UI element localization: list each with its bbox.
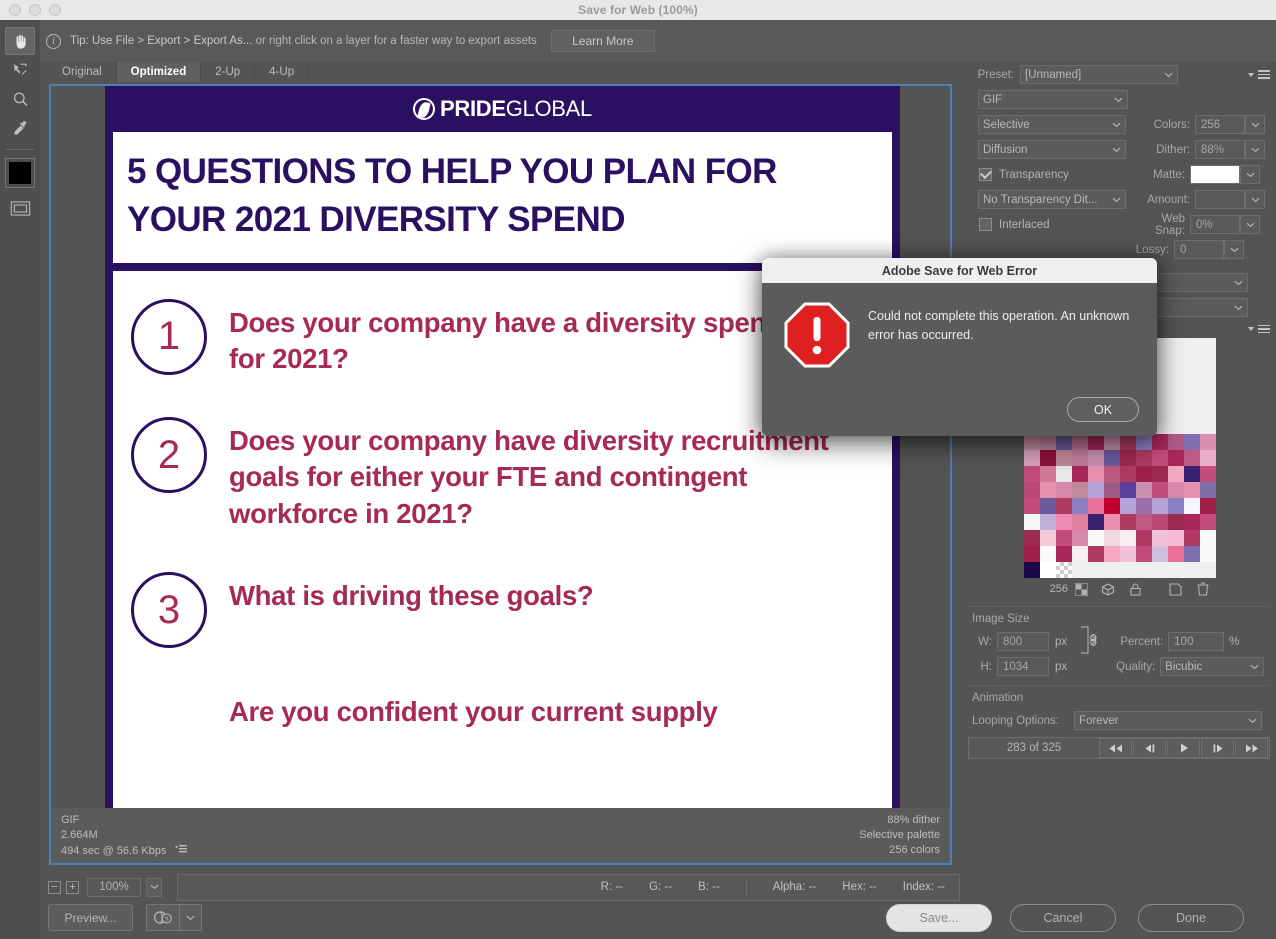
color-swatch[interactable]	[1072, 546, 1088, 562]
color-swatch[interactable]	[1072, 434, 1088, 450]
readout-hex: Hex: --	[842, 881, 877, 893]
lossy-dropdown[interactable]	[1224, 240, 1244, 259]
save-button[interactable]: Save...	[886, 904, 992, 932]
error-message: Could not complete this operation. An un…	[868, 302, 1137, 373]
preview-button[interactable]: Preview...	[48, 904, 133, 931]
chevron-down-icon	[1164, 69, 1173, 81]
color-swatch[interactable]	[1152, 562, 1168, 578]
color-swatch[interactable]	[1088, 498, 1104, 514]
zoom-tool[interactable]	[5, 85, 35, 113]
optimized-download-time: 494 sec @ 56.6 Kbps	[61, 844, 187, 857]
matte-label: Matte:	[1129, 169, 1185, 181]
question-item: 1 Does your company have a diversity spe…	[131, 299, 866, 378]
fast-forward-icon	[1244, 744, 1260, 753]
color-swatch[interactable]	[1072, 482, 1088, 498]
foreground-color-swatch[interactable]	[5, 158, 35, 188]
color-swatch[interactable]	[1168, 418, 1184, 434]
color-swatch[interactable]	[1168, 386, 1184, 402]
preset-row: Preset: [Unnamed]	[968, 62, 1270, 87]
question-number: 2	[131, 417, 207, 493]
tab-original[interactable]: Original	[48, 62, 117, 82]
question-number: 1	[131, 299, 207, 375]
svg-text:?: ?	[165, 917, 169, 924]
color-swatch[interactable]	[1152, 482, 1168, 498]
color-swatch[interactable]	[1200, 466, 1216, 482]
color-swatch[interactable]	[1136, 482, 1152, 498]
preset-select[interactable]: [Unnamed]	[1020, 65, 1178, 84]
tip-prefix: Tip: Use File > Export > Export As...	[70, 35, 252, 47]
looping-options-select[interactable]: Forever	[1074, 711, 1262, 730]
document-brand-header: PRIDEGLOBAL	[105, 86, 900, 132]
color-swatch[interactable]	[1072, 498, 1088, 514]
color-swatch[interactable]	[1024, 482, 1040, 498]
color-swatch[interactable]	[1056, 514, 1072, 530]
transparency-checkbox[interactable]	[979, 168, 992, 181]
quality-select[interactable]: Bicubic	[1160, 657, 1264, 676]
readout-b: B: --	[698, 881, 720, 893]
animation-section: Animation Looping Options: Forever 283 o…	[968, 685, 1270, 759]
color-swatch[interactable]	[1040, 498, 1056, 514]
color-swatch[interactable]	[1200, 498, 1216, 514]
color-swatch[interactable]	[1136, 434, 1152, 450]
color-swatch[interactable]	[1024, 514, 1040, 530]
slice-select-icon	[11, 61, 30, 80]
pride-logo-mark-icon	[413, 98, 435, 120]
animation-section-label: Animation	[972, 692, 1270, 704]
transparency-icon[interactable]	[1068, 583, 1095, 596]
delete-color-icon[interactable]	[1189, 582, 1216, 596]
tab-4up[interactable]: 4-Up	[255, 62, 309, 82]
cancel-button[interactable]: Cancel	[1010, 904, 1116, 932]
color-swatch[interactable]	[1088, 546, 1104, 562]
eyedropper-tool[interactable]	[5, 114, 35, 142]
color-swatch[interactable]	[1200, 562, 1216, 578]
color-swatch[interactable]	[1200, 402, 1216, 418]
download-time-text: 494 sec @ 56.6 Kbps	[61, 845, 166, 857]
color-swatch[interactable]	[1088, 450, 1104, 466]
tip-suffix: or right click on a layer for a faster w…	[256, 35, 537, 47]
color-swatch[interactable]	[1104, 530, 1120, 546]
browser-preview-icon: ?	[153, 909, 173, 926]
amount-label: Amount:	[1134, 194, 1190, 206]
zoom-out-button[interactable]: −	[48, 881, 61, 894]
optimized-palette: Selective palette	[859, 829, 940, 841]
preset-label: Preset:	[968, 69, 1014, 81]
color-swatch[interactable]	[1120, 450, 1136, 466]
width-unit: px	[1055, 636, 1067, 648]
chevron-down-icon	[1250, 661, 1259, 673]
reduction-colors-row: Selective Colors: 256	[968, 112, 1270, 137]
status-zoom-bar: − + 100% R: -- G: -- B: -- Alpha: -- Hex…	[48, 872, 960, 902]
color-swatch[interactable]	[1200, 546, 1216, 562]
file-format-select[interactable]: GIF	[978, 90, 1128, 109]
settings-panel: Preset: [Unnamed] GIF Selecti	[962, 62, 1276, 862]
learn-more-button[interactable]: Learn More	[551, 30, 655, 52]
color-swatch[interactable]	[1072, 466, 1088, 482]
chevron-down-icon	[1114, 94, 1123, 106]
image-height-row: H: 1034 px Quality: Bicubic	[968, 654, 1270, 679]
color-table-flyout-menu-button[interactable]	[1248, 325, 1270, 334]
color-swatch[interactable]	[1184, 354, 1200, 370]
color-swatch[interactable]	[1200, 434, 1216, 450]
color-table-count: 256	[1024, 583, 1068, 595]
color-swatch[interactable]	[1168, 562, 1184, 578]
color-swatch[interactable]	[1184, 370, 1200, 386]
link-chain-icon[interactable]	[1079, 625, 1101, 658]
question-text: Are you confident your current supply	[229, 688, 718, 730]
color-swatch[interactable]	[1136, 498, 1152, 514]
color-swatch[interactable]	[1040, 546, 1056, 562]
transparency-dither-amount-row: No Transparency Dit... Amount:	[968, 187, 1270, 212]
color-swatch[interactable]	[1152, 530, 1168, 546]
color-swatch[interactable]	[1200, 514, 1216, 530]
color-swatch[interactable]	[1104, 546, 1120, 562]
question-item: 4 Are you confident your current supply	[131, 688, 866, 764]
quality-label: Quality:	[1103, 661, 1155, 673]
play-button[interactable]	[1167, 738, 1200, 758]
hand-icon	[11, 32, 30, 51]
matte-dropdown[interactable]	[1240, 165, 1260, 184]
pride-global-logo: PRIDEGLOBAL	[413, 96, 592, 122]
color-swatch[interactable]	[1184, 450, 1200, 466]
dither-algorithm-value: Diffusion	[983, 144, 1028, 156]
color-swatch[interactable]	[1168, 338, 1184, 354]
color-swatch[interactable]	[1200, 370, 1216, 386]
ok-button[interactable]: OK	[1067, 397, 1139, 422]
percent-field[interactable]: 100	[1168, 632, 1224, 651]
width-label: W:	[972, 636, 992, 648]
color-swatch[interactable]	[1056, 530, 1072, 546]
color-swatch[interactable]	[1024, 546, 1040, 562]
done-button[interactable]: Done	[1138, 904, 1244, 932]
color-swatch[interactable]	[1168, 450, 1184, 466]
color-swatch[interactable]	[1104, 450, 1120, 466]
image-width-row: W: 800 px Percent: 100 %	[968, 629, 1270, 654]
color-swatch[interactable]	[1072, 514, 1088, 530]
height-label: H:	[972, 661, 992, 673]
color-swatch[interactable]	[1168, 354, 1184, 370]
lossy-label: Lossy:	[968, 244, 1169, 256]
color-swatch[interactable]	[1072, 562, 1088, 578]
color-swatch[interactable]	[1120, 530, 1136, 546]
looping-options-value: Forever	[1079, 715, 1119, 727]
color-swatch[interactable]	[1184, 530, 1200, 546]
color-swatch[interactable]	[1136, 466, 1152, 482]
tab-2up[interactable]: 2-Up	[201, 62, 255, 82]
format-row: GIF	[968, 87, 1270, 112]
color-swatch[interactable]	[1184, 338, 1200, 354]
color-swatch[interactable]	[1168, 498, 1184, 514]
dither-dropdown[interactable]	[1245, 140, 1265, 159]
color-swatch[interactable]	[1104, 514, 1120, 530]
readout-index: Index: --	[903, 881, 945, 893]
color-swatch[interactable]	[1056, 562, 1072, 578]
color-swatch[interactable]	[1072, 450, 1088, 466]
color-swatch[interactable]	[1152, 546, 1168, 562]
question-item: 2 Does your company have diversity recru…	[131, 417, 866, 532]
info-icon: i	[46, 34, 61, 49]
matte-color-swatch[interactable]	[1190, 165, 1240, 184]
color-swatch[interactable]	[1040, 466, 1056, 482]
color-swatch[interactable]	[1088, 482, 1104, 498]
color-swatch[interactable]	[1136, 514, 1152, 530]
color-swatch[interactable]	[1200, 386, 1216, 402]
next-frame-button[interactable]	[1201, 738, 1234, 758]
rewind-icon	[1108, 744, 1124, 753]
chevron-down-icon	[186, 915, 195, 921]
color-swatch[interactable]	[1184, 386, 1200, 402]
color-swatch[interactable]	[1024, 562, 1040, 578]
dither-algorithm-select[interactable]: Diffusion	[978, 140, 1126, 159]
color-swatch[interactable]	[1136, 562, 1152, 578]
frame-counter: 283 of 325	[969, 742, 1099, 754]
color-swatch[interactable]	[1040, 530, 1056, 546]
chevron-down-icon	[1251, 144, 1260, 156]
toggle-slices-icon	[9, 198, 32, 219]
chevron-down-icon	[1112, 194, 1121, 206]
color-swatch[interactable]	[1136, 450, 1152, 466]
question-item: 3 What is driving these goals?	[131, 572, 866, 648]
percent-label: Percent:	[1107, 636, 1163, 648]
tip-bar: i Tip: Use File > Export > Export As... …	[40, 20, 1276, 62]
color-swatch[interactable]	[1168, 434, 1184, 450]
web-snap-field[interactable]: 0%	[1190, 215, 1240, 234]
view-tabs: Original Optimized 2-Up 4-Up	[48, 62, 958, 82]
color-swatch[interactable]	[1024, 498, 1040, 514]
zoom-level-field[interactable]: 100%	[87, 878, 141, 897]
colors-label: Colors:	[1134, 119, 1190, 131]
color-swatch[interactable]	[1168, 402, 1184, 418]
interlaced-checkbox[interactable]	[979, 218, 992, 231]
color-swatch[interactable]	[1024, 434, 1040, 450]
error-dialog-title: Adobe Save for Web Error	[762, 258, 1157, 283]
color-swatch[interactable]	[1040, 482, 1056, 498]
question-text: What is driving these goals?	[229, 572, 593, 614]
transparency-dither-value: No Transparency Dit...	[983, 194, 1097, 206]
color-swatch[interactable]	[1104, 434, 1120, 450]
document-headline: 5 QUESTIONS TO HELP YOU PLAN FOR YOUR 20…	[127, 148, 878, 245]
amount-field[interactable]	[1195, 190, 1245, 209]
color-swatch[interactable]	[1088, 514, 1104, 530]
color-swatch[interactable]	[1168, 466, 1184, 482]
color-swatch[interactable]	[1184, 466, 1200, 482]
color-swatch[interactable]	[1184, 482, 1200, 498]
color-swatch[interactable]	[1088, 466, 1104, 482]
color-swatch[interactable]	[1056, 466, 1072, 482]
color-swatch[interactable]	[1184, 546, 1200, 562]
optimized-info-left: GIF 2.664M 494 sec @ 56.6 Kbps	[61, 814, 187, 857]
error-dialog-footer: OK	[1067, 397, 1139, 422]
optimized-info-right: 88% dither Selective palette 256 colors	[859, 814, 940, 857]
step-back-icon	[1143, 744, 1157, 753]
color-swatch[interactable]	[1056, 434, 1072, 450]
animation-navigation-bar: 283 of 325	[968, 737, 1270, 759]
chevron-down-icon	[1112, 144, 1121, 156]
color-swatch[interactable]	[1184, 562, 1200, 578]
looping-options-row: Looping Options: Forever	[968, 708, 1270, 733]
chevron-down-icon	[1251, 194, 1260, 206]
web-snap-label: Web Snap:	[1129, 213, 1185, 237]
dither-label: Dither:	[1134, 144, 1190, 156]
image-size-section: Image Size W: 800 px Percent: 100 %	[968, 606, 1270, 679]
color-swatch[interactable]	[1168, 370, 1184, 386]
colors-dropdown[interactable]	[1245, 115, 1265, 134]
color-swatch[interactable]	[1104, 482, 1120, 498]
foreground-color-chip	[9, 162, 31, 184]
preset-value: [Unnamed]	[1025, 69, 1081, 81]
last-frame-button[interactable]	[1235, 738, 1268, 758]
optimized-format: GIF	[61, 814, 187, 826]
optimized-preview-canvas[interactable]: PRIDEGLOBAL 5 QUESTIONS TO HELP YOU PLAN…	[49, 84, 952, 865]
color-reduction-select[interactable]: Selective	[978, 115, 1126, 134]
toggle-slices-visibility-button[interactable]	[5, 194, 35, 222]
color-swatch[interactable]	[1104, 466, 1120, 482]
previous-frame-button[interactable]	[1133, 738, 1166, 758]
download-speed-flyout-icon[interactable]	[175, 844, 187, 854]
slice-select-tool[interactable]	[5, 56, 35, 84]
color-swatch[interactable]	[1168, 514, 1184, 530]
color-swatch[interactable]	[1136, 546, 1152, 562]
chevron-down-icon	[1246, 169, 1255, 181]
color-swatch[interactable]	[1152, 450, 1168, 466]
color-swatch[interactable]	[1120, 482, 1136, 498]
first-frame-button[interactable]	[1099, 738, 1132, 758]
logo-pride: PRIDE	[440, 96, 506, 121]
color-swatch[interactable]	[1056, 498, 1072, 514]
color-swatch[interactable]	[1184, 498, 1200, 514]
chevron-down-icon	[150, 884, 159, 890]
color-swatch[interactable]	[1056, 546, 1072, 562]
colors-field[interactable]: 256	[1195, 115, 1245, 134]
document-image: PRIDEGLOBAL 5 QUESTIONS TO HELP YOU PLAN…	[105, 86, 900, 831]
eyedropper-icon	[11, 119, 30, 138]
tab-optimized[interactable]: Optimized	[117, 62, 202, 82]
color-swatch[interactable]	[1200, 482, 1216, 498]
color-swatch[interactable]	[1200, 354, 1216, 370]
web-shift-icon[interactable]	[1095, 583, 1122, 596]
color-swatch[interactable]	[1040, 562, 1056, 578]
zoom-level-dropdown[interactable]	[146, 878, 162, 897]
readout-g: G: --	[649, 881, 672, 893]
readout-r: R: --	[601, 881, 623, 893]
chevron-down-icon	[1112, 119, 1121, 131]
amount-dropdown[interactable]	[1245, 190, 1265, 209]
readout-alpha: Alpha: --	[773, 881, 816, 893]
logo-global: GLOBAL	[506, 96, 592, 121]
looping-options-label: Looping Options:	[972, 715, 1068, 727]
width-field[interactable]: 800	[997, 632, 1049, 651]
height-field[interactable]: 1034	[997, 657, 1049, 676]
color-swatch[interactable]	[1088, 562, 1104, 578]
color-swatch[interactable]	[1200, 338, 1216, 354]
web-snap-dropdown[interactable]	[1240, 215, 1260, 234]
color-swatch[interactable]	[1168, 482, 1184, 498]
optimized-dither: 88% dither	[859, 814, 940, 826]
zoom-in-button[interactable]: +	[66, 881, 79, 894]
error-dialog-body: Could not complete this operation. An un…	[762, 283, 1157, 373]
color-swatch[interactable]	[1168, 546, 1184, 562]
magnifier-icon	[11, 90, 30, 109]
color-swatch[interactable]	[1072, 530, 1088, 546]
color-swatch[interactable]	[1104, 562, 1120, 578]
color-swatch[interactable]	[1120, 546, 1136, 562]
color-swatch[interactable]	[1184, 434, 1200, 450]
lossy-field[interactable]: 0	[1174, 240, 1224, 259]
chevron-down-icon	[1246, 219, 1255, 231]
optimized-color-count: 256 colors	[859, 844, 940, 856]
error-octagon-icon	[784, 302, 850, 373]
lock-icon[interactable]	[1122, 583, 1149, 596]
step-forward-icon	[1211, 744, 1225, 753]
color-swatch[interactable]	[1088, 530, 1104, 546]
color-swatch[interactable]	[1120, 434, 1136, 450]
color-swatch[interactable]	[1136, 530, 1152, 546]
chevron-down-icon	[1248, 715, 1257, 727]
color-swatch[interactable]	[1184, 418, 1200, 434]
new-color-icon[interactable]	[1162, 583, 1189, 596]
document-title-card: 5 QUESTIONS TO HELP YOU PLAN FOR YOUR 20…	[113, 132, 892, 263]
color-swatch[interactable]	[1184, 514, 1200, 530]
quality-value: Bicubic	[1165, 661, 1202, 673]
save-for-web-window: Save for Web (100%)	[0, 0, 1276, 939]
color-swatch[interactable]	[1056, 482, 1072, 498]
color-swatch[interactable]	[1040, 450, 1056, 466]
title-bar: Save for Web (100%)	[0, 0, 1276, 20]
color-swatch[interactable]	[1120, 514, 1136, 530]
logo-wordmark: PRIDEGLOBAL	[440, 96, 592, 122]
color-table-footer: 256	[1024, 578, 1216, 600]
play-icon	[1178, 743, 1190, 753]
hand-tool[interactable]	[5, 27, 35, 55]
color-swatch[interactable]	[1040, 434, 1056, 450]
optimized-filesize: 2.664M	[61, 829, 187, 841]
color-swatch[interactable]	[1152, 466, 1168, 482]
height-unit: px	[1055, 661, 1067, 673]
color-swatch[interactable]	[1024, 530, 1040, 546]
color-swatch[interactable]	[1152, 498, 1168, 514]
color-swatch[interactable]	[1168, 530, 1184, 546]
color-swatch[interactable]	[1056, 450, 1072, 466]
color-swatch[interactable]	[1040, 514, 1056, 530]
transparency-dither-select[interactable]: No Transparency Dit...	[978, 190, 1126, 209]
chevron-down-icon	[1230, 244, 1239, 256]
chevron-down-icon	[1234, 302, 1243, 314]
color-swatch[interactable]	[1104, 498, 1120, 514]
file-format-value: GIF	[983, 94, 1002, 106]
tip-message: Tip: Use File > Export > Export As... or…	[70, 35, 537, 47]
question-number: 3	[131, 572, 207, 648]
color-swatch[interactable]	[1184, 402, 1200, 418]
color-swatch[interactable]	[1120, 498, 1136, 514]
color-swatch[interactable]	[1120, 562, 1136, 578]
color-swatch[interactable]	[1152, 434, 1168, 450]
color-swatch[interactable]	[1152, 514, 1168, 530]
transparency-matte-row: Transparency Matte:	[968, 162, 1270, 187]
color-swatch[interactable]	[1200, 418, 1216, 434]
color-swatch[interactable]	[1024, 466, 1040, 482]
preview-browser-dropdown[interactable]	[180, 904, 202, 931]
color-swatch[interactable]	[1024, 450, 1040, 466]
dither-amount-field[interactable]: 88%	[1195, 140, 1245, 159]
preset-flyout-menu-button[interactable]	[1248, 70, 1270, 79]
preview-in-browser-button[interactable]: ?	[146, 904, 180, 931]
color-swatch[interactable]	[1200, 450, 1216, 466]
color-swatch[interactable]	[1088, 434, 1104, 450]
readout-divider	[746, 878, 747, 896]
color-swatch[interactable]	[1200, 530, 1216, 546]
interlaced-label: Interlaced	[999, 219, 1125, 231]
color-swatch[interactable]	[1120, 466, 1136, 482]
